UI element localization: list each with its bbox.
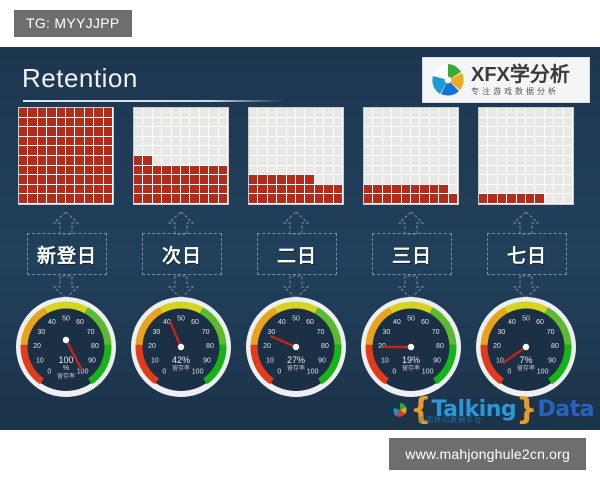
svg-text:30: 30 [498,329,506,336]
grid-cell [498,156,507,166]
retention-gauge: 010203040506070809010042%留存率 [129,295,233,399]
grid-cell [430,137,439,147]
grid-cell [190,118,199,128]
grid-cell [479,146,488,156]
grid-cell [507,146,516,156]
grid-cell [104,137,113,147]
grid-cell [554,108,563,118]
svg-text:80: 80 [91,343,99,350]
grid-cell [411,146,420,156]
svg-text:80: 80 [551,343,559,350]
grid-cell [324,194,333,204]
grid-cell [219,156,228,166]
grid-cell [383,175,392,185]
grid-cell [430,156,439,166]
gauge-dial: 0102030405060708090100 [244,295,348,399]
grid-cell [488,194,497,204]
grid-cell [564,146,573,156]
grid-cell [143,137,152,147]
grid-cell [411,118,420,128]
grid-cell [383,137,392,147]
grid-cell [526,175,535,185]
grid-cell [75,194,84,204]
grid-cell [190,127,199,137]
grid-cell [334,137,343,147]
grid-cell [364,137,373,147]
grid-cell [38,194,47,204]
grid-cell [66,137,75,147]
grid-cell [449,194,458,204]
grid-cell [296,175,305,185]
grid-cell [268,194,277,204]
grid-cell [85,118,94,128]
grid-cell [364,108,373,118]
svg-text:30: 30 [383,329,391,336]
svg-text:40: 40 [393,319,401,326]
svg-text:10: 10 [496,357,504,364]
grid-cell [383,118,392,128]
grid-cell [305,194,314,204]
grid-cell [498,185,507,195]
day-label-box[interactable]: 三日 [372,233,452,275]
grid-cell [19,137,28,147]
grid-cell [181,127,190,137]
grid-cell [94,166,103,176]
grid-cell [75,175,84,185]
svg-text:100: 100 [537,368,549,375]
grid-cell [47,194,56,204]
svg-text:60: 60 [421,319,429,326]
grid-cell [517,166,526,176]
grid-cell [439,156,448,166]
grid-cell [305,175,314,185]
grid-cell [277,137,286,147]
grid-cell [334,108,343,118]
grid-cell [200,146,209,156]
grid-cell [38,175,47,185]
grid-cell [564,137,573,147]
grid-cell [85,137,94,147]
day-label-box[interactable]: 七日 [487,233,567,275]
grid-cell [249,118,258,128]
grid-cell [181,194,190,204]
grid-cell [420,185,429,195]
grid-cell [104,108,113,118]
grid-cell [373,137,382,147]
grid-cell [66,127,75,137]
grid-cell [315,146,324,156]
grid-cell [479,127,488,137]
svg-text:20: 20 [263,343,271,350]
grid-cell [162,175,171,185]
grid-cell [488,166,497,176]
grid-cell [411,166,420,176]
grid-cell [249,127,258,137]
grid-cell [287,194,296,204]
grid-cell [104,156,113,166]
grid-cell [134,127,143,137]
grid-cell [324,146,333,156]
grid-cell [287,127,296,137]
retention-grid [133,107,229,207]
svg-text:20: 20 [148,343,156,350]
grid-cell [162,108,171,118]
grid-cell [479,185,488,195]
grid-cell [94,127,103,137]
grid-cell [420,166,429,176]
grid-cell [498,146,507,156]
grid-cell [143,108,152,118]
grid-cell [411,185,420,195]
grid-cell [517,108,526,118]
grid-cell [75,127,84,137]
svg-text:70: 70 [317,329,325,336]
grid-cell [392,175,401,185]
grid-cell [28,118,37,128]
grid-cell [324,108,333,118]
grid-cell [249,146,258,156]
grid-cell [200,108,209,118]
grid-cell [315,118,324,128]
grid-cell [104,146,113,156]
grid-cell [57,137,66,147]
grid-cell [498,137,507,147]
day-label-text: 二日 [277,241,317,268]
day-label-text: 七日 [507,241,547,268]
grid-cell [172,185,181,195]
grid-cell [449,118,458,128]
grid-cell [28,194,37,204]
grid-cell [383,108,392,118]
grid-cell [498,175,507,185]
grid-cell [439,118,448,128]
grid-cell [535,194,544,204]
grid-cell [535,175,544,185]
svg-text:100: 100 [307,368,319,375]
grid-cell [66,156,75,166]
day-label-box[interactable]: 次日 [142,233,222,275]
grid-cell [66,185,75,195]
grid-cell [85,108,94,118]
grid-cell [402,194,411,204]
grid-cell [439,185,448,195]
grid-cell [554,185,563,195]
svg-text:30: 30 [38,329,46,336]
svg-text:50: 50 [522,316,530,323]
svg-text:0: 0 [392,368,396,375]
retention-grid [363,107,459,207]
grid-cell [104,127,113,137]
grid-cell [564,166,573,176]
grid-cell [420,194,429,204]
grid-cell [334,127,343,137]
grid-cell [402,146,411,156]
grid-cell [38,127,47,137]
grid-cell [219,166,228,176]
grid-cell [411,194,420,204]
grid-cell [153,118,162,128]
grid-cell [526,185,535,195]
grid-cell [268,108,277,118]
grid-cell [287,146,296,156]
grid-cell [296,118,305,128]
svg-text:70: 70 [202,329,210,336]
svg-text:40: 40 [508,319,516,326]
grid-cell [209,175,218,185]
grid-cell [134,137,143,147]
gauge-dial: 0102030405060708090100 [359,295,463,399]
grid-cell [488,175,497,185]
grid-cell [57,185,66,195]
grid-cell [162,156,171,166]
grid-cell [94,185,103,195]
grid-cell [209,185,218,195]
grid-cell [38,185,47,195]
day-label-box[interactable]: 新登日 [27,233,107,275]
grid-cell [507,166,516,176]
grid-cell [554,156,563,166]
grid-cell [364,194,373,204]
grid-cell [535,127,544,137]
grid-cell [104,175,113,185]
grid-cell [564,175,573,185]
grid-cell [268,127,277,137]
grid-cell [19,108,28,118]
grid-cell [479,194,488,204]
grid-cell [392,185,401,195]
grid-cell [564,127,573,137]
page-title: Retention [22,63,138,94]
grid-cell [181,175,190,185]
grid-cell [324,118,333,128]
grid-cell [411,175,420,185]
grid-cell [383,156,392,166]
svg-text:20: 20 [493,343,501,350]
grid-cell [277,166,286,176]
grid-cell [526,156,535,166]
grid-cell [526,166,535,176]
grid-cell [143,118,152,128]
grid-cell [535,156,544,166]
grid-cell [364,166,373,176]
grid-cell [75,137,84,147]
grid-cell [209,108,218,118]
grid-cell [172,194,181,204]
svg-text:50: 50 [177,316,185,323]
grid-cell [85,166,94,176]
grid-cell [190,166,199,176]
grid-cell [564,194,573,204]
grid-cell [364,175,373,185]
grid-cell [545,175,554,185]
grid-cell [209,137,218,147]
xfx-logo: XFX学分析 专注游戏数据分析 [422,57,590,103]
grid-cell [200,118,209,128]
grid-cell [277,146,286,156]
grid-cell [94,156,103,166]
grid-cell [134,185,143,195]
grid-cell [104,185,113,195]
grid-cell [411,108,420,118]
grid-cell [190,156,199,166]
grid-cell [94,175,103,185]
grid-cell [324,175,333,185]
svg-text:70: 70 [87,329,95,336]
gauge-dial: 0102030405060708090100 [129,295,233,399]
grid-cell [143,175,152,185]
grid-cell [219,108,228,118]
retention-slide: Retention XFX学分析 专注游戏数据分析 新登日次日二日三日七日 [0,47,600,430]
svg-text:70: 70 [547,329,555,336]
grid-cell [392,118,401,128]
grid-cell [554,194,563,204]
grid-cell [268,166,277,176]
grid-cell [488,127,497,137]
grid-cells [363,107,459,205]
pinwheel-icon [429,61,467,99]
grid-cell [85,194,94,204]
grid-cell [517,127,526,137]
grid-cell [554,175,563,185]
grid-cell [287,137,296,147]
grid-cell [305,166,314,176]
grid-cell [181,156,190,166]
grid-cell [219,137,228,147]
grid-cell [172,127,181,137]
svg-text:50: 50 [407,316,415,323]
svg-text:50: 50 [62,316,70,323]
grid-cell [526,108,535,118]
grid-cell [315,108,324,118]
grid-cell [28,175,37,185]
grid-cell [57,166,66,176]
grid-cell [296,156,305,166]
grid-cell [535,146,544,156]
grid-cells [248,107,344,205]
grid-cell [143,185,152,195]
grid-cell [402,166,411,176]
grid-cell [66,146,75,156]
grid-cell [249,108,258,118]
grid-cell [564,108,573,118]
grid-cell [392,137,401,147]
grid-cell [277,118,286,128]
grid-cell [19,185,28,195]
grid-cell [383,146,392,156]
grid-cell [75,185,84,195]
watermark-text-data: Data [538,398,594,422]
svg-text:90: 90 [203,357,211,364]
grid-cell [153,108,162,118]
grid-cell [334,194,343,204]
grid-cell [172,108,181,118]
grid-cell [258,175,267,185]
grid-cell [153,185,162,195]
grid-cell [554,146,563,156]
retention-grid [478,107,574,207]
retention-gauge: 010203040506070809010019%留存率 [359,295,463,399]
grid-cell [315,137,324,147]
grid-cell [554,137,563,147]
grid-cell [545,156,554,166]
grid-cell [526,137,535,147]
grid-cell [324,185,333,195]
grid-cell [488,146,497,156]
grid-cell [181,146,190,156]
grid-cell [373,127,382,137]
grid-cell [66,108,75,118]
grid-cell [305,118,314,128]
grid-cell [430,118,439,128]
grid-cell [498,127,507,137]
svg-text:90: 90 [548,357,556,364]
grid-cell [507,194,516,204]
grid-cell [134,194,143,204]
svg-text:90: 90 [433,357,441,364]
day-label-box[interactable]: 二日 [257,233,337,275]
grid-cell [19,146,28,156]
grid-cell [373,146,382,156]
grid-cell [75,118,84,128]
grid-cell [104,194,113,204]
grid-cell [498,166,507,176]
grid-cell [439,175,448,185]
grid-cell [47,185,56,195]
svg-text:40: 40 [48,319,56,326]
grid-cell [153,137,162,147]
grid-cell [315,156,324,166]
grid-cell [94,108,103,118]
grid-cell [287,185,296,195]
grid-cell [200,127,209,137]
grid-cell [28,146,37,156]
svg-text:100: 100 [192,368,204,375]
day-label-text: 次日 [162,241,202,268]
svg-text:10: 10 [266,357,274,364]
grid-cell [219,185,228,195]
grid-cell [162,137,171,147]
grid-cell [85,175,94,185]
grid-cell [268,118,277,128]
grid-cell [57,175,66,185]
grid-cell [143,166,152,176]
grid-cell [172,146,181,156]
grid-cell [315,127,324,137]
grid-cell [143,156,152,166]
grid-cell [209,118,218,128]
grid-cell [554,118,563,128]
grid-cell [315,166,324,176]
grid-cell [268,175,277,185]
grid-cell [172,137,181,147]
day-label-text: 三日 [392,241,432,268]
grid-cell [143,146,152,156]
grid-cell [334,146,343,156]
grid-cell [479,166,488,176]
grid-cell [47,118,56,128]
grid-cell [134,166,143,176]
grid-cell [28,127,37,137]
grid-cell [85,146,94,156]
grid-cell [498,118,507,128]
grid-cell [507,156,516,166]
grid-cell [517,146,526,156]
grid-cell [38,166,47,176]
grid-cell [38,108,47,118]
grid-cell [258,137,267,147]
grid-cell [334,175,343,185]
grid-cell [402,156,411,166]
